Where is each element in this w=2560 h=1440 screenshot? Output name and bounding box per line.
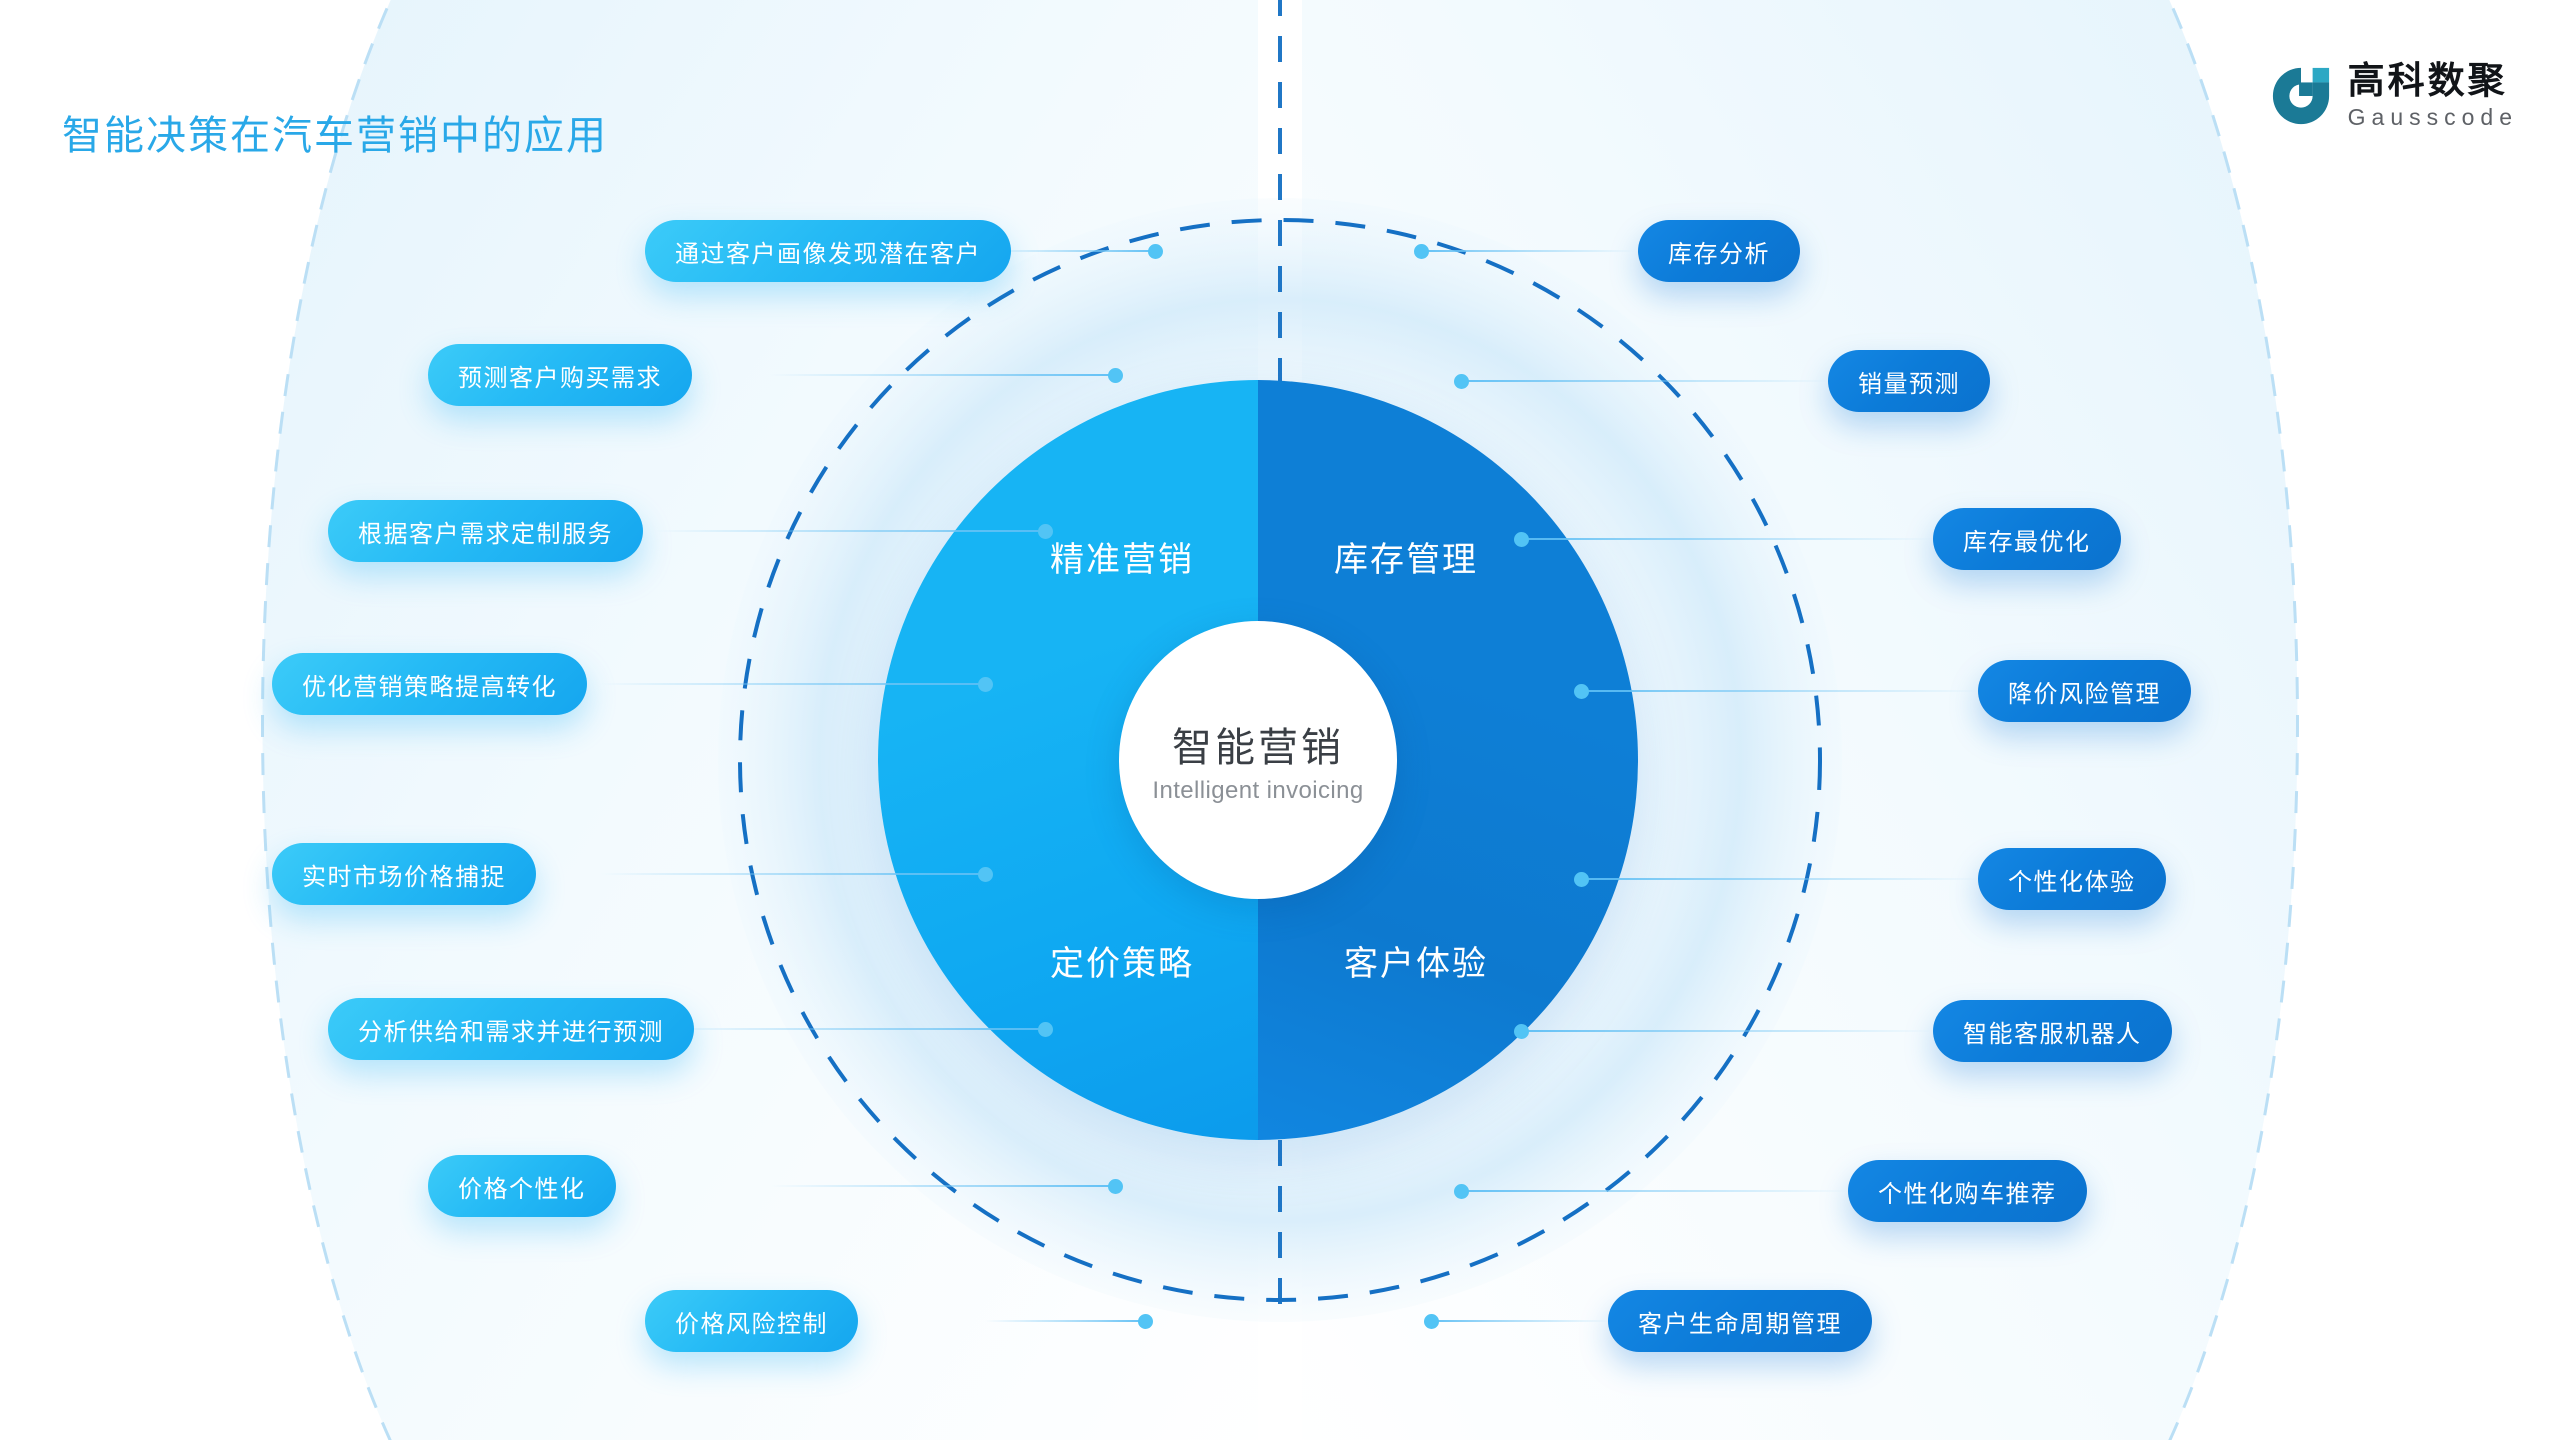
left-item-pill-2[interactable]: 预测客户购买需求 xyxy=(428,344,692,406)
left-item-pill-5[interactable]: 实时市场价格捕捉 xyxy=(272,843,536,905)
right-item-pill-6[interactable]: 智能客服机器人 xyxy=(1933,1000,2172,1062)
node-dot-left-5 xyxy=(978,867,993,882)
right-item-pill-7[interactable]: 个性化购车推荐 xyxy=(1848,1160,2087,1222)
right-item-pill-4[interactable]: 降价风险管理 xyxy=(1978,660,2191,722)
quadrant-label-top-left: 精准营销 xyxy=(1050,532,1194,581)
left-item-pill-6[interactable]: 分析供给和需求并进行预测 xyxy=(328,998,694,1060)
node-dot-left-1 xyxy=(1148,244,1163,259)
quadrant-label-bottom-left: 定价策略 xyxy=(1050,936,1194,985)
connector-right-1 xyxy=(1420,250,1635,252)
connector-right-8 xyxy=(1430,1320,1610,1322)
quadrant-label-top-right: 库存管理 xyxy=(1334,532,1478,581)
left-item-pill-8[interactable]: 价格风险控制 xyxy=(645,1290,858,1352)
logo-name-cn: 高科数聚 xyxy=(2348,62,2518,99)
brand-logo: 高科数聚 Gausscode xyxy=(2270,62,2518,129)
outer-dashed-arc-left xyxy=(263,0,421,1440)
connector-right-4 xyxy=(1580,690,1980,692)
center-title-en: Intelligent invoicing xyxy=(1152,777,1363,805)
connector-right-7 xyxy=(1460,1190,1850,1192)
logo-name-en: Gausscode xyxy=(2348,106,2518,129)
left-item-pill-1[interactable]: 通过客户画像发现潜在客户 xyxy=(645,220,1011,282)
connector-left-7 xyxy=(770,1185,1115,1187)
left-item-pill-4[interactable]: 优化营销策略提高转化 xyxy=(272,653,587,715)
node-dot-left-8 xyxy=(1138,1314,1153,1329)
node-dot-right-1 xyxy=(1414,244,1429,259)
right-item-pill-3[interactable]: 库存最优化 xyxy=(1933,508,2121,570)
gausscode-logo-icon xyxy=(2270,65,2332,127)
node-dot-right-2 xyxy=(1454,374,1469,389)
node-dot-left-3 xyxy=(1038,524,1053,539)
node-dot-right-8 xyxy=(1424,1314,1439,1329)
node-dot-right-4 xyxy=(1574,684,1589,699)
right-item-pill-2[interactable]: 销量预测 xyxy=(1828,350,1990,412)
node-dot-left-6 xyxy=(1038,1022,1053,1037)
page-title: 智能决策在汽车营销中的应用 xyxy=(62,103,608,161)
node-dot-right-6 xyxy=(1514,1024,1529,1039)
right-item-pill-1[interactable]: 库存分析 xyxy=(1638,220,1800,282)
connector-left-2 xyxy=(770,374,1115,376)
node-dot-right-3 xyxy=(1514,532,1529,547)
node-dot-left-2 xyxy=(1108,368,1123,383)
connector-left-8 xyxy=(985,1320,1145,1322)
node-dot-left-7 xyxy=(1108,1179,1123,1194)
node-dot-right-5 xyxy=(1574,872,1589,887)
right-item-pill-5[interactable]: 个性化体验 xyxy=(1978,848,2166,910)
node-dot-right-7 xyxy=(1454,1184,1469,1199)
node-dot-left-4 xyxy=(978,677,993,692)
center-title-cn: 智能营销 xyxy=(1172,715,1344,773)
left-item-pill-3[interactable]: 根据客户需求定制服务 xyxy=(328,500,643,562)
left-item-pill-7[interactable]: 价格个性化 xyxy=(428,1155,616,1217)
right-item-pill-8[interactable]: 客户生命周期管理 xyxy=(1608,1290,1872,1352)
quadrant-label-bottom-right: 客户体验 xyxy=(1344,936,1488,985)
slide-canvas: 智能决策在汽车营销中的应用 高科数聚 Gausscode 精准营销 库存管理 定… xyxy=(0,0,2560,1440)
center-hub: 智能营销 Intelligent invoicing xyxy=(1119,621,1397,899)
connector-right-5 xyxy=(1580,878,1980,880)
